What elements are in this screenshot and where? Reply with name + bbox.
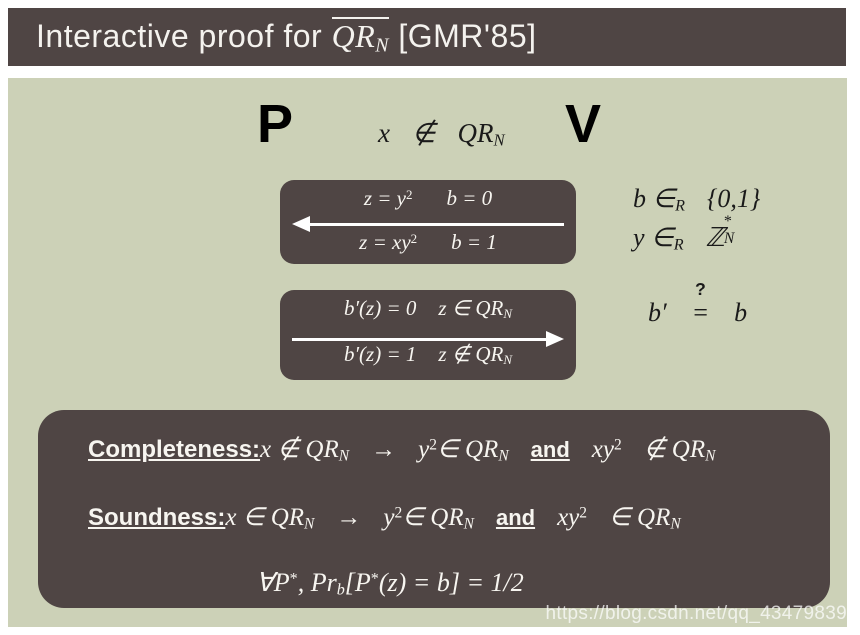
completeness-conclusion-1: y	[418, 436, 429, 463]
message-1-top-left-exponent: 2	[406, 187, 413, 202]
verifier-check-symbol-group: ?=	[689, 298, 712, 328]
soundness-arrow: →	[336, 504, 361, 531]
soundness-conclusion-1-relation: ∈ QR	[402, 504, 463, 531]
message-1-top-right: b = 0	[447, 186, 493, 210]
verifier-check-right: b	[734, 298, 747, 327]
verifier-bit-choice: b ∈R{0,1}	[633, 184, 760, 216]
probability-body-open: [P	[345, 568, 371, 597]
completeness-premise: x ∉ QR	[260, 436, 339, 463]
completeness-conclusion-1-subscript: N	[498, 447, 508, 464]
arrow-left-line	[308, 223, 564, 226]
completeness-conjunction: and	[531, 437, 570, 462]
verifier-witness-group-star: *	[724, 213, 731, 231]
common-input-relation: ∉	[412, 118, 436, 148]
probability-equals: = 1/2	[460, 568, 524, 597]
verifier-label: V	[565, 97, 601, 151]
soundness-conclusion-2-relation: ∈ QR	[609, 504, 670, 531]
completeness-conclusion-2: xy	[592, 436, 614, 463]
message-1-bottom-right: b = 1	[451, 230, 497, 254]
verifier-bit-choice-set: {0,1}	[707, 184, 760, 213]
message-2-bottom-left: b′(z) = 1	[344, 342, 416, 366]
verifier-witness-group-subscript: N	[724, 230, 733, 248]
slide-title-bar: Interactive proof for QRN [GMR'85]	[8, 8, 846, 66]
common-input-var: x	[378, 118, 390, 148]
message-1-bottom-left: z = xy	[359, 230, 411, 254]
soundness-conclusion-2-subscript: N	[670, 515, 680, 532]
verifier-bit-choice-relation: b ∈	[633, 184, 675, 213]
completeness-statement: Completeness:x ∉ QRN→y2∈ QRNandxy2∉ QRN	[88, 434, 715, 465]
message-1-top-row: z = y2b = 0	[280, 186, 576, 211]
verifier-witness-group-symbol: ℤ	[706, 223, 724, 252]
soundness-premise: x ∈ QR	[225, 504, 304, 531]
soundness-label: Soundness:	[88, 504, 225, 531]
probability-pr-subscript: b	[337, 582, 345, 599]
message-2-top-right: z ∈ QR	[438, 296, 503, 320]
verifier-check-equals: =	[692, 298, 710, 327]
soundness-conclusion-2-exponent: 2	[579, 505, 587, 522]
message-box-prover-to-verifier: z = y2b = 0 z = xy2b = 1	[280, 180, 576, 264]
soundness-conclusion-1-subscript: N	[464, 515, 474, 532]
message-1-top-left: z = y	[364, 186, 406, 210]
verifier-witness-relation: y ∈	[633, 223, 674, 252]
soundness-premise-subscript: N	[304, 515, 314, 532]
message-2-top-left: b′(z) = 0	[344, 296, 416, 320]
verifier-check-question-mark: ?	[689, 279, 712, 300]
completeness-conclusion-2-subscript: N	[705, 447, 715, 464]
completeness-conclusion-1-relation: ∈ QR	[437, 436, 498, 463]
message-box-verifier-to-prover: b′(z) = 0z ∈ QRN b′(z) = 1z ∉ QRN	[280, 290, 576, 380]
message-1-bottom-row: z = xy2b = 1	[280, 230, 576, 255]
slide-body: P V x∉QRN z = y2b = 0 z = xy2b = 1 b′(z)…	[8, 78, 847, 627]
completeness-conclusion-2-exponent: 2	[614, 437, 622, 454]
completeness-conclusion-2-relation: ∉ QR	[644, 436, 705, 463]
message-2-bottom-right-subscript: N	[503, 352, 512, 367]
completeness-label: Completeness:	[88, 436, 260, 463]
completeness-arrow: →	[371, 436, 396, 463]
message-2-top-row: b′(z) = 0z ∈ QRN	[280, 296, 576, 322]
probability-body-star: *	[371, 570, 379, 587]
title-math-base: QR	[332, 18, 376, 54]
probability-statement: ∀P*, Prb[P*(z) = b] = 1/2	[256, 568, 524, 600]
properties-panel: Completeness:x ∉ QRN→y2∈ QRNandxy2∉ QRN …	[38, 410, 830, 608]
title-math-subscript: N	[375, 35, 389, 57]
verifier-check-equation: b′?=b	[648, 298, 747, 328]
soundness-conjunction: and	[496, 505, 535, 530]
probability-quantifier: ∀P	[256, 568, 290, 597]
title-prefix: Interactive proof for	[36, 18, 332, 54]
page-title: Interactive proof for QRN [GMR'85]	[8, 17, 537, 56]
soundness-conclusion-2: xy	[557, 504, 579, 531]
prover-label: P	[257, 97, 293, 151]
probability-quantifier-star: *	[290, 570, 298, 587]
title-math-qrn: QRN	[332, 18, 389, 54]
common-input-statement: x∉QRN	[378, 118, 505, 151]
completeness-conclusion-1-exponent: 2	[429, 437, 437, 454]
verifier-witness-subscript: R	[674, 237, 684, 254]
verifier-witness-choice: y ∈Rℤ*N	[633, 223, 724, 255]
message-1-bottom-left-exponent: 2	[411, 231, 418, 246]
common-input-set: QR	[458, 118, 494, 148]
arrow-right-line	[292, 338, 548, 341]
message-2-top-right-subscript: N	[503, 306, 512, 321]
message-2-bottom-row: b′(z) = 1z ∉ QRN	[280, 342, 576, 368]
soundness-conclusion-1: y	[383, 504, 394, 531]
probability-comma: ,	[298, 568, 311, 597]
title-suffix: [GMR'85]	[389, 18, 537, 54]
common-input-set-subscript: N	[494, 131, 505, 150]
soundness-statement: Soundness:x ∈ QRN→y2∈ QRNandxy2∈ QRN	[88, 502, 681, 533]
probability-body-rest: (z) = b]	[379, 568, 460, 597]
message-2-bottom-right: z ∉ QR	[438, 342, 503, 366]
title-overline-group: QRN	[332, 17, 389, 56]
completeness-premise-subscript: N	[339, 447, 349, 464]
verifier-check-left: b′	[648, 298, 667, 327]
probability-pr: Pr	[311, 568, 337, 597]
verifier-witness-group: ℤ*N	[706, 223, 724, 253]
verifier-bit-choice-subscript: R	[675, 198, 685, 215]
csdn-watermark: https://blog.csdn.net/qq_43479839	[546, 603, 847, 625]
